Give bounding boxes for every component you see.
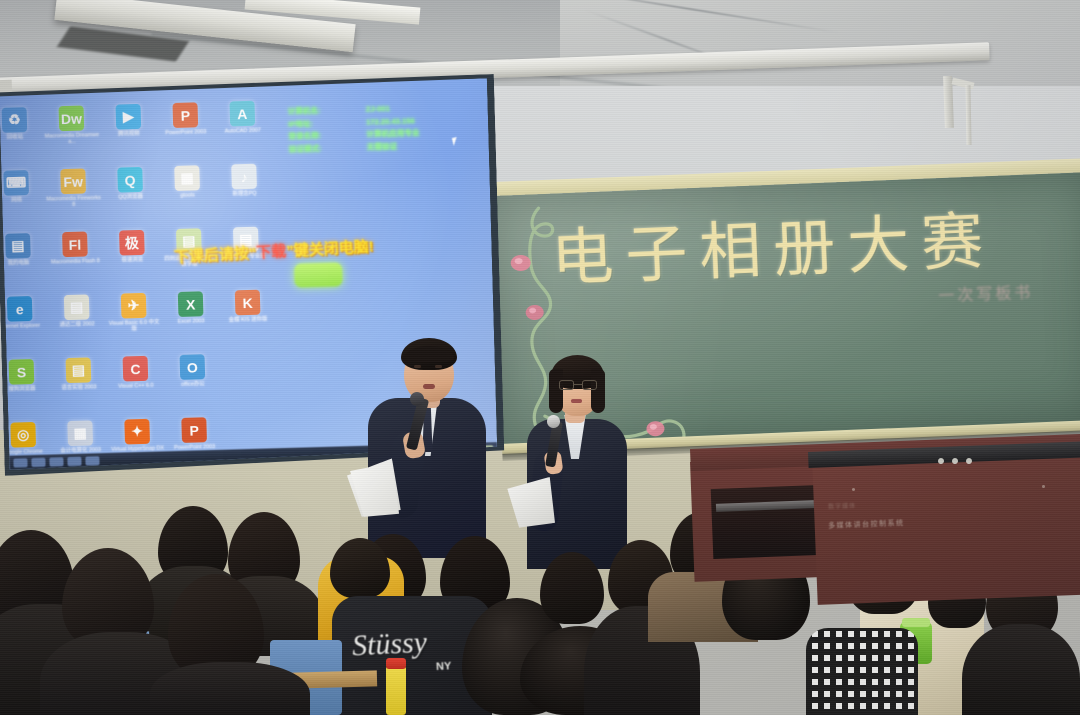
desktop-icon[interactable]: ▤语言实验 2003: [50, 355, 109, 420]
desktop-icon-label: Macromedia Dreamwea...: [44, 132, 99, 146]
desktop-icon[interactable]: FlMacromedia Flash 8: [46, 229, 105, 294]
desktop-icon-glyph: S: [9, 359, 35, 385]
desktop-icon[interactable]: eInternet Explorer: [0, 294, 50, 359]
desktop-icon-label: 新理念PQ: [217, 190, 272, 198]
desktop-icon-label: Visual Basic 6.0 中文版: [107, 319, 162, 333]
desktop-icon[interactable]: QQQ浏览器: [101, 164, 160, 229]
desktop-icon-glyph: ▦: [67, 420, 93, 446]
female-presenter-hair-side-right: [591, 369, 605, 413]
desktop-icon-label: office办公: [165, 381, 220, 389]
desktop-icon[interactable]: ▤通达二级 2002: [48, 292, 107, 357]
desktop-icon-label: 通达二级 2002: [50, 321, 105, 329]
taskbar-item-2[interactable]: [49, 457, 63, 466]
desktop-icon-glyph: ♻: [2, 107, 28, 133]
checkered-shirt-student: [806, 628, 918, 715]
desktop-icon-label: Visual C++ 6.0: [108, 382, 163, 390]
audience-shoulders: [150, 662, 310, 715]
desktop-icon[interactable]: ✈Visual Basic 6.0 中文版: [105, 290, 164, 355]
podium-equipment-bay: [711, 485, 822, 559]
desktop-icon-glyph: e: [7, 296, 33, 322]
desktop-icon[interactable]: ▤我的电脑: [0, 231, 48, 296]
desktop-icon-glyph: ▤: [66, 357, 92, 383]
desktop-icon-glyph: [237, 353, 263, 379]
projected-green-button[interactable]: [294, 262, 343, 287]
desktop-icon-label: Excel 2003: [164, 318, 219, 326]
podium-screw-dot: [852, 488, 855, 491]
desktop-icon[interactable]: ♪新理念PQ: [215, 161, 274, 226]
yellow-drink-bottle: [386, 665, 406, 715]
desktop-icon-label: Internet Explorer: [0, 323, 48, 331]
desktop-icon[interactable]: PPowerPoint 2003: [156, 100, 215, 165]
desktop-icon-glyph: [238, 416, 264, 442]
desktop-icon-glyph: Fl: [62, 231, 88, 257]
desktop-icon-label: 我的电脑: [0, 260, 46, 268]
thermos-lid-icon: [902, 618, 930, 627]
audience-shoulders: [962, 624, 1080, 715]
male-presenter-eye-left: [414, 365, 421, 368]
desktop-icon-glyph: 极: [119, 230, 145, 256]
desktop-icon-glyph: ✦: [124, 419, 150, 445]
system-info-label: 验证模式:: [289, 141, 367, 156]
desktop-icon[interactable]: [220, 350, 279, 415]
taskbar-item-4[interactable]: [85, 456, 99, 465]
desktop-icon-glyph: ⌨: [3, 170, 29, 196]
desktop-icon-glyph: O: [180, 354, 206, 380]
desktop-icon-glyph: C: [123, 356, 149, 382]
desktop-icon-glyph: ▤: [5, 233, 31, 259]
podium-screw-dot: [1042, 485, 1045, 488]
desktop-icon[interactable]: CVisual C++ 6.0: [106, 353, 165, 418]
desktop-icon-glyph: ♪: [231, 164, 257, 190]
desktop-icon-glyph: ▦: [174, 165, 200, 191]
glasses-icon: [559, 380, 597, 390]
taskbar-item-3[interactable]: [67, 456, 81, 465]
desktop-icon-label: 腾讯视频: [101, 130, 156, 138]
desktop-icon-glyph: P: [172, 102, 198, 128]
desktop-icon-glyph: Fw: [60, 168, 86, 194]
desktop-icon-glyph: X: [178, 291, 204, 317]
desktop-icon-glyph: ▤: [64, 294, 90, 320]
desktop-icon-label: 网络: [0, 197, 44, 205]
desktop-icon-label: AutoCAD 2007: [215, 127, 270, 135]
desktop-icon-label: 金蝶 KIS 迷你版: [221, 316, 276, 324]
male-presenter: [360, 336, 510, 566]
desktop-icon-label: 回收站: [0, 134, 42, 142]
female-presenter: [515, 355, 655, 570]
desktop-icon[interactable]: ⌨网络: [0, 168, 46, 233]
blackboard-subtitle: 一次写板书: [938, 278, 1034, 306]
bottle-cap-icon: [386, 658, 406, 669]
desktop-icon[interactable]: ♻回收站: [0, 105, 44, 170]
desktop-icon[interactable]: AAutoCAD 2007: [213, 98, 272, 163]
desktop-icon-label: 语言实验 2003: [51, 384, 106, 392]
desktop-icon-grid[interactable]: ♻回收站DwMacromedia Dreamwea...▶腾讯视频PPowerP…: [0, 98, 283, 469]
desktop-icon[interactable]: 极极速浏览: [103, 227, 162, 292]
system-info-value: 无需验证: [367, 140, 398, 153]
desktop-icon-label: gtools: [160, 192, 215, 200]
desktop-icon-glyph: ▶: [116, 104, 142, 130]
desktop-icon[interactable]: ▶腾讯视频: [99, 101, 158, 166]
desktop-icon-glyph: ✈: [121, 293, 147, 319]
desktop-icon-glyph: P: [181, 417, 207, 443]
desktop-icon-label: Macromedia Fireworks 8: [46, 195, 101, 209]
banner-quoted: 下载: [256, 243, 287, 262]
system-info-value: ZJ-001: [366, 103, 390, 116]
desktop-icon[interactable]: ▦gtools: [158, 163, 217, 228]
desktop-icon-label: PowerPoint 2003: [158, 129, 213, 137]
screen-pull-pole: [965, 85, 971, 145]
classroom-photo-scene: 电子相册大赛 一次写板书 ♻回收站DwMacromedia Dreamwea..…: [0, 0, 1080, 715]
projected-system-info: 计算机名:ZJ-001IP地址:172.20.43.156登录名称:计算机应用专…: [288, 100, 489, 156]
desktop-icon-glyph: ◎: [10, 422, 36, 448]
desktop-icon-glyph: A: [229, 101, 255, 127]
desktop-icon-label: QQ浏览器: [103, 193, 158, 201]
blackboard-title: 电子相册大赛: [550, 190, 997, 298]
male-presenter-eye-right: [435, 365, 442, 368]
desktop-icon-glyph: Q: [117, 167, 143, 193]
taskbar-item-1[interactable]: [31, 457, 45, 466]
banner-suffix: 键关闭电脑!: [293, 238, 374, 259]
desktop-icon-label: 极速浏览: [105, 256, 160, 264]
system-info-value: 计算机应用专业: [366, 127, 419, 141]
taskbar-start-button[interactable]: [13, 458, 27, 467]
banner-prefix: 下课后请按: [173, 245, 249, 266]
ceiling-crack: [542, 0, 839, 33]
desktop-icon-glyph: K: [235, 290, 261, 316]
male-presenter-mouth: [423, 384, 435, 389]
desktop-icon[interactable]: DwMacromedia Dreamwea...: [42, 103, 101, 168]
desktop-icon[interactable]: K金蝶 KIS 迷你版: [219, 287, 278, 352]
desktop-icon-label: [222, 379, 277, 381]
female-presenter-hair-side-left: [549, 369, 563, 413]
desktop-icon[interactable]: Ooffice办公: [163, 352, 222, 417]
desktop-icon-glyph: Dw: [59, 106, 85, 132]
desktop-icon-label: Macromedia Flash 8: [48, 258, 103, 266]
female-presenter-mouth: [571, 399, 582, 403]
desktop-icon-label: [224, 442, 279, 444]
desktop-icon[interactable]: FwMacromedia Fireworks 8: [44, 166, 103, 231]
desktop-icon[interactable]: XExcel 2003: [162, 289, 221, 354]
